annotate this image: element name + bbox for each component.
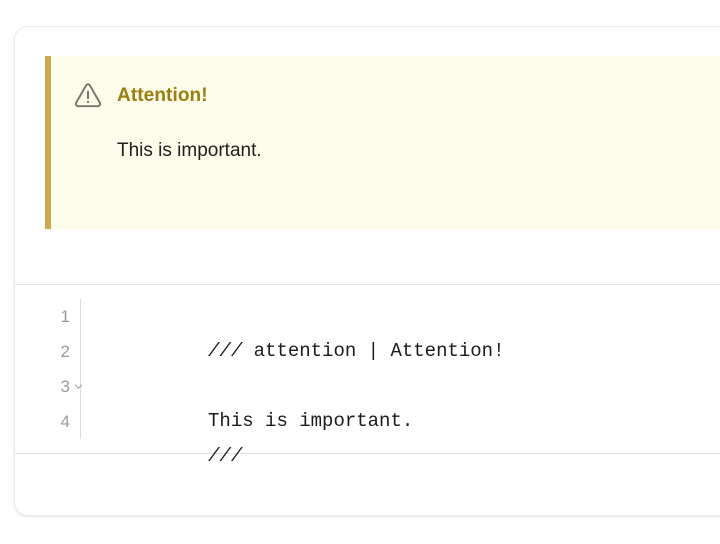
attention-callout: Attention! This is important. <box>45 56 720 229</box>
code-line-1[interactable]: /// attention | Attention! <box>94 299 720 334</box>
code-table: 1 2 3 4 // <box>15 299 720 439</box>
gutter-line-1[interactable]: 1 <box>15 299 80 334</box>
admonition-example-card: Attention! This is important. 1 2 3 <box>14 26 720 516</box>
callout-title: Attention! <box>117 86 208 105</box>
rendered-preview-pane: Attention! This is important. <box>15 27 720 285</box>
code-token-comment: /// <box>208 340 254 362</box>
code-token-text: attention | Attention! <box>254 340 505 362</box>
callout-title-row: Attention! <box>73 78 720 112</box>
gutter-line-2[interactable]: 2 <box>15 334 80 369</box>
gutter-line-3[interactable]: 3 <box>15 369 80 404</box>
code-lines[interactable]: /// attention | Attention! This is impor… <box>81 299 720 439</box>
callout-body-text: This is important. <box>117 139 720 164</box>
gutter-line-4[interactable]: 4 <box>15 404 80 439</box>
line-number: 2 <box>61 334 70 369</box>
code-token-text: This is important. <box>208 410 413 432</box>
line-number: 4 <box>61 404 70 439</box>
line-number: 3 <box>61 369 70 404</box>
chevron-down-icon[interactable] <box>72 381 84 393</box>
warning-triangle-icon <box>73 80 103 110</box>
code-token-comment: /// <box>208 445 242 467</box>
source-code-pane[interactable]: 1 2 3 4 // <box>15 285 720 454</box>
line-number: 1 <box>61 299 70 334</box>
line-number-gutter: 1 2 3 4 <box>15 299 81 439</box>
